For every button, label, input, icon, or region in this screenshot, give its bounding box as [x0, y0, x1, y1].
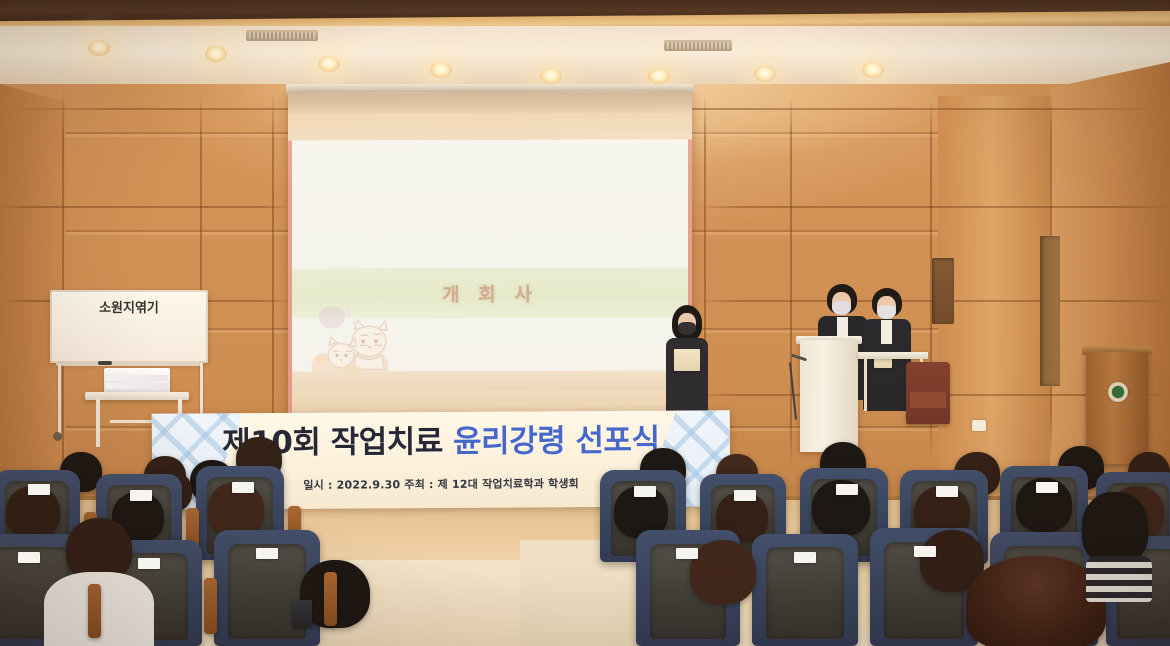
wall-outlet [972, 420, 986, 431]
mobile-whiteboard: 소원지엮기 [50, 290, 208, 363]
audience-head-right-edge [1082, 492, 1148, 564]
speaker-mask [678, 322, 696, 335]
wooden-lectern [1086, 352, 1148, 464]
ceiling-air-vent-1 [246, 30, 318, 41]
seat-r3-5 [752, 534, 858, 646]
seat-tag-r2-1 [28, 484, 50, 495]
downlight-4 [430, 62, 452, 78]
downlight-1 [88, 40, 110, 56]
audience-phone-2 [292, 600, 312, 628]
downlight-2 [205, 46, 227, 62]
ceiling-air-vent-2 [664, 40, 732, 51]
seat-tag-r2-3 [232, 482, 254, 493]
seat-tag-r3-2 [138, 558, 160, 569]
armrest-r3-2 [204, 578, 217, 634]
podium [800, 340, 858, 452]
whiteboard-caster-left [53, 432, 62, 441]
seat-tag-r3-5 [794, 552, 816, 563]
seat-tag-r3-4 [676, 548, 698, 559]
stage-long-table [858, 352, 928, 359]
wall-door-niche [1040, 236, 1060, 386]
seat-tag-r2-4 [634, 486, 656, 497]
banner-title-blue: 윤리강령 선포식 [453, 423, 660, 460]
presenter-right-mask [877, 305, 896, 319]
whiteboard-text: 소원지엮기 [52, 297, 206, 316]
stage-table-leg-left [864, 359, 867, 411]
slide-title-text: 개 회 사 [442, 279, 538, 306]
folded-paper-stack [104, 368, 170, 394]
speaker-woman [660, 305, 716, 415]
wall-seam-vertical-5 [790, 96, 792, 466]
lectern-emblem-icon [1108, 382, 1128, 402]
seat-tag-r2-6 [836, 484, 858, 495]
downlight-6 [648, 68, 670, 84]
seat-tag-r2-8 [1036, 482, 1058, 493]
audience-head-foreground [966, 556, 1106, 646]
slide-bottom-strip [292, 370, 688, 391]
presenter-right-shirt [881, 320, 892, 344]
whiteboard-marker [98, 361, 112, 365]
seat-tag-r3-6 [914, 546, 936, 557]
audience-head-r3-3 [690, 540, 756, 604]
armrest-r3-1 [88, 584, 101, 638]
whiteboard-marker-tray [56, 361, 202, 366]
side-table [85, 392, 189, 400]
seat-tag-r2-7 [936, 486, 958, 497]
downlight-3 [318, 56, 340, 72]
downlight-8 [862, 62, 884, 78]
whiteboard-leg-left [58, 363, 61, 433]
screen-tan-band [288, 113, 692, 140]
speaker-script-paper [674, 349, 700, 371]
projector-screen: 개 회 사 [288, 91, 692, 417]
striped-sleeve [1086, 556, 1152, 602]
presenter-left-mask [832, 301, 851, 315]
wall-seam-horizontal-4 [694, 206, 1170, 208]
ceiling-soffit [0, 26, 1170, 84]
armrest-r3-3 [324, 572, 337, 626]
side-table-leg-left [96, 399, 100, 447]
seat-tag-r3-3 [256, 548, 278, 559]
seat-tag-r2-5 [734, 490, 756, 501]
seat-tag-r3-1 [18, 552, 40, 563]
downlight-7 [754, 66, 776, 82]
screen-top-band [288, 91, 692, 114]
two-cartoon-tigers-icon [302, 301, 400, 379]
wall-recessed-panel [932, 258, 954, 324]
auditorium-ceremony-photo: 개 회 사 [0, 0, 1170, 646]
seat-tag-r2-2 [130, 490, 152, 501]
downlight-5 [540, 68, 562, 84]
wall-seam-horizontal-2 [0, 206, 290, 208]
presentation-slide: 개 회 사 [292, 139, 688, 391]
stage-side-chair [906, 362, 950, 424]
